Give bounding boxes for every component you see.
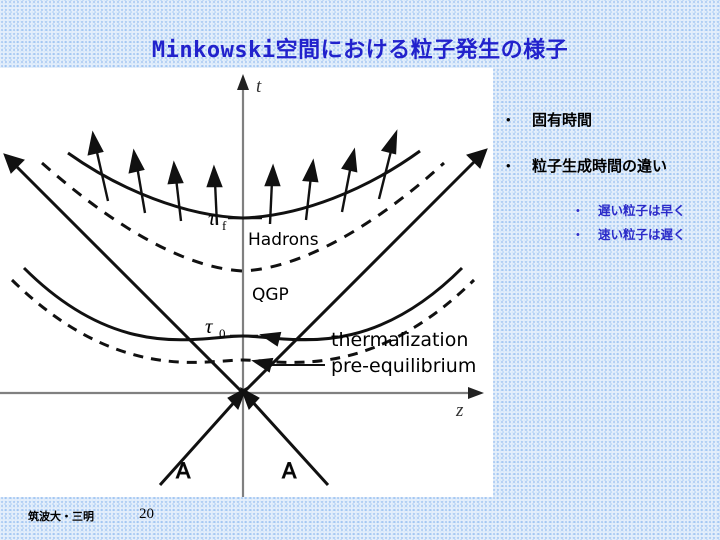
expansion-arrow — [304, 162, 317, 220]
expansion-arrow — [342, 151, 356, 212]
bullet-item-2-sub-1: • 遅い粒子は早く — [496, 202, 720, 220]
bullet-text: 固有時間 — [522, 110, 592, 130]
z-axis-label: z — [455, 400, 464, 421]
footer-author: 筑波大・三明 — [28, 508, 94, 524]
expansion-arrow — [130, 152, 145, 213]
t-axis-label: t — [256, 76, 262, 97]
bullet-text: 速い粒子は遅く — [592, 226, 686, 244]
nucleus-right-label: A — [282, 459, 297, 483]
z-axis-arrowhead — [468, 387, 484, 399]
bullet-item-2: • 粒子生成時間の違い — [496, 156, 720, 176]
bullet-text: 遅い粒子は早く — [592, 202, 686, 220]
nucleus-left-label: A — [176, 459, 191, 483]
figure-text-labels: τ f τ 0 Hadrons QGP — [205, 206, 319, 341]
pre-equilibrium-leader-arrowhead — [254, 359, 272, 371]
hadrons-label: Hadrons — [248, 230, 319, 250]
tau-f-subscript: f — [222, 218, 227, 233]
thermalization-leader-arrowhead — [262, 333, 280, 345]
bullet-marker: • — [496, 110, 522, 130]
bullet-marker: • — [496, 226, 592, 244]
tau-0-subscript: 0 — [219, 326, 226, 341]
minkowski-diagram-panel: t z A A — [0, 68, 493, 497]
bullet-marker: • — [496, 156, 522, 176]
qgp-label: QGP — [252, 285, 289, 305]
bullet-list: • 固有時間 • 粒子生成時間の違い • 遅い粒子は早く • 速い粒子は遅く — [496, 110, 720, 250]
bullet-item-1: • 固有時間 — [496, 110, 720, 130]
t-axis-arrowhead — [237, 74, 249, 90]
thermalization-label: thermalization — [331, 329, 468, 351]
light-cone-upper-left — [17, 167, 243, 393]
expansion-arrow — [169, 164, 182, 221]
pre-equilibrium-label: pre-equilibrium — [331, 355, 476, 377]
nucleus-left-trajectory — [160, 398, 238, 485]
minkowski-diagram-svg: t z A A — [0, 68, 493, 497]
tau-0-label: τ — [205, 314, 214, 338]
bullet-marker: • — [496, 202, 592, 220]
axes-group: t z — [0, 74, 484, 497]
expansion-arrow — [379, 133, 396, 199]
bullet-text: 粒子生成時間の違い — [522, 156, 667, 176]
footer-page-number: 20 — [139, 506, 154, 523]
page-title: Minkowski空間における粒子発生の様子 — [0, 32, 720, 64]
bullet-item-2-sub-2: • 速い粒子は遅く — [496, 226, 720, 244]
light-cone-group: A A — [4, 149, 487, 485]
